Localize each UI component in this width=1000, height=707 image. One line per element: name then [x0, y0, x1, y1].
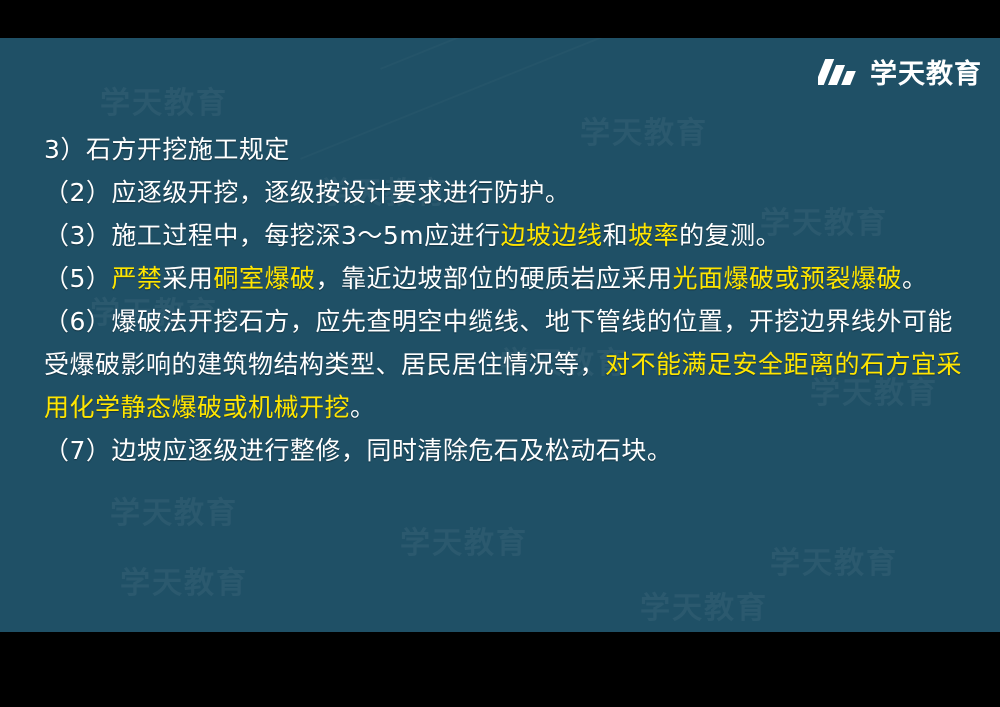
slide-text-content: 3）石方开挖施工规定 （2）应逐级开挖，逐级按设计要求进行防护。 （3）施工过程…	[44, 128, 964, 472]
text-line-item-5: （5）严禁采用硐室爆破，靠近边坡部位的硬质岩应采用光面爆破或预裂爆破。	[44, 257, 964, 300]
text-segment: （5）	[44, 264, 111, 293]
text-segment: （2）应逐级开挖，逐级按设计要求进行防护。	[44, 178, 570, 207]
text-segment: 。	[350, 393, 376, 422]
brand-logo: 学天教育	[818, 52, 982, 91]
watermark-text: 学天教育	[640, 583, 768, 627]
slide-content-area: 学天教育 学天教育 学天教育 学天教育 学天教育 学天教育 学天教育 学天教育 …	[0, 38, 1000, 632]
text-segment: 。	[902, 264, 928, 293]
text-line-item-3: （3）施工过程中，每挖深3～5m应进行边坡边线和坡率的复测。	[44, 214, 964, 257]
text-segment: ，靠近边坡部位的硬质岩应采用	[315, 264, 672, 293]
logo-text: 学天教育	[870, 52, 982, 91]
text-segment: 3）石方开挖施工规定	[44, 135, 290, 164]
watermark-text: 学天教育	[110, 488, 238, 532]
watermark-text: 学天教育	[120, 558, 248, 602]
text-line-item-7: （7）边坡应逐级进行整修，同时清除危石及松动石块。	[44, 429, 964, 472]
text-segment-highlight: 硐室爆破	[213, 264, 315, 293]
text-segment: （3）施工过程中，每挖深3～5m应进行	[44, 221, 501, 250]
text-segment: 和	[603, 221, 629, 250]
text-segment: 采用	[162, 264, 213, 293]
watermark-text: 学天教育	[100, 78, 228, 122]
text-segment: （7）边坡应逐级进行整修，同时清除危石及松动石块。	[44, 436, 672, 465]
text-segment-highlight: 光面爆破或预裂爆破	[672, 264, 902, 293]
text-segment-highlight: 严禁	[111, 264, 162, 293]
watermark-text: 学天教育	[400, 518, 528, 562]
text-line-item-2: （2）应逐级开挖，逐级按设计要求进行防护。	[44, 171, 964, 214]
text-line-item-6: （6）爆破法开挖石方，应先查明空中缆线、地下管线的位置，开挖边界线外可能受爆破影…	[44, 300, 964, 429]
watermark-text: 学天教育	[770, 538, 898, 582]
text-segment: 的复测。	[679, 221, 781, 250]
logo-mark-icon	[818, 57, 862, 87]
text-segment-highlight: 边坡边线	[501, 221, 603, 250]
text-line-heading: 3）石方开挖施工规定	[44, 128, 964, 171]
slide-frame: 学天教育 学天教育 学天教育 学天教育 学天教育 学天教育 学天教育 学天教育 …	[0, 0, 1000, 707]
text-segment-highlight: 坡率	[628, 221, 679, 250]
